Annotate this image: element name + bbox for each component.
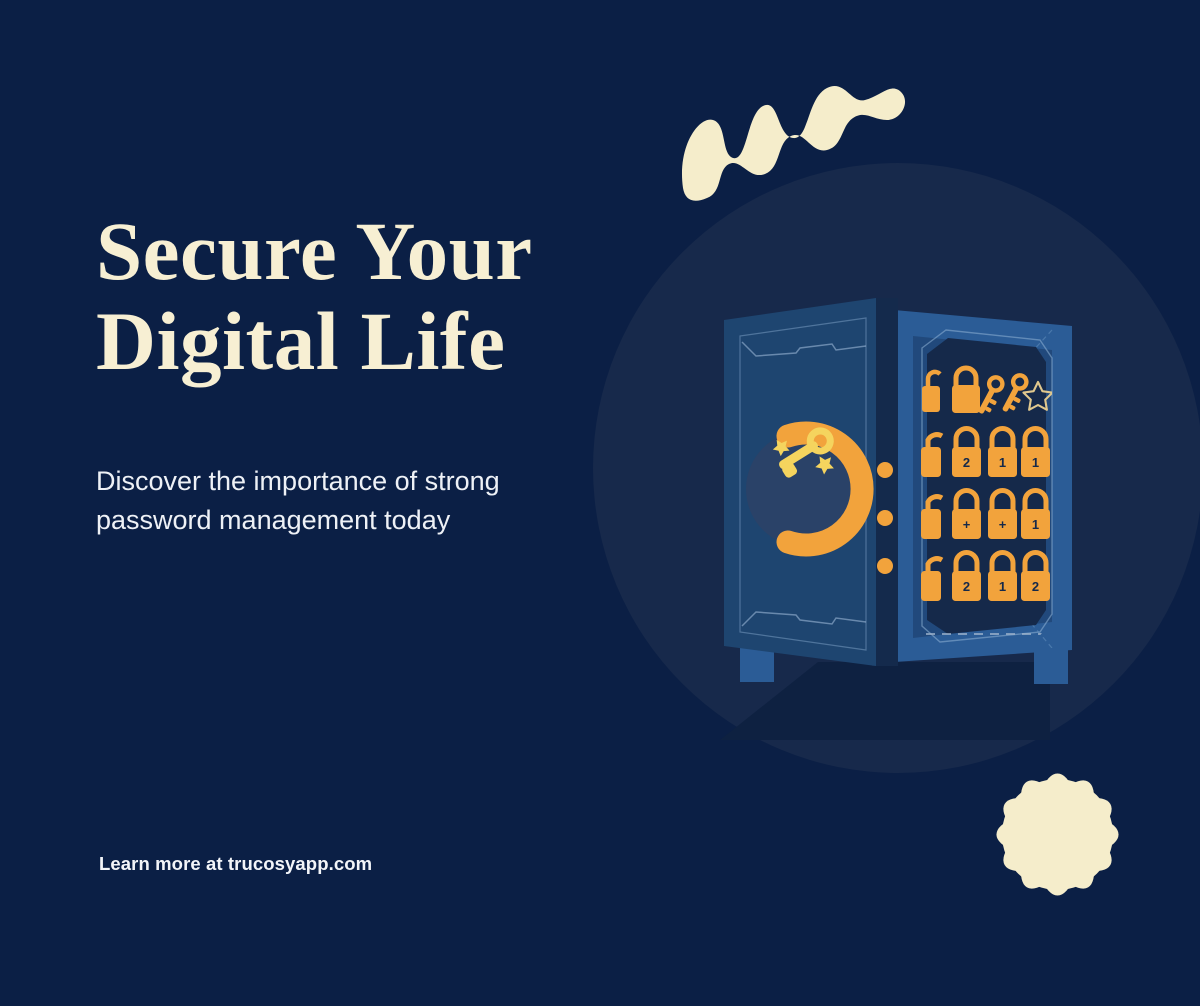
safe-body	[894, 310, 1072, 662]
hinge-dot	[877, 462, 893, 478]
squiggle-decoration	[655, 58, 925, 213]
safe-door	[724, 298, 876, 666]
hinge-dot	[877, 510, 893, 526]
hinge-dot	[877, 558, 893, 574]
poster-canvas: 2 1 1	[0, 0, 1200, 1006]
flower-decoration	[955, 742, 1160, 927]
padlock-label: 2	[1032, 579, 1039, 594]
padlock-label: 1	[999, 455, 1006, 470]
padlock-label: 1	[1032, 455, 1039, 470]
headline-line-1: Secure Your	[96, 205, 533, 297]
padlock-label: 1	[1032, 517, 1039, 532]
safe-illustration: 2 1 1	[700, 270, 1140, 720]
padlock-label: 2	[963, 579, 970, 594]
padlock-label: +	[999, 517, 1007, 532]
padlock-label: +	[963, 517, 971, 532]
footer-cta-text: Learn more at trucosyapp.com	[99, 853, 372, 875]
padlock-label: 2	[963, 455, 970, 470]
page-title: Secure YourDigital Life	[96, 206, 596, 387]
headline-line-2: Digital Life	[96, 295, 505, 387]
headline-block: Secure YourDigital Life	[96, 206, 596, 387]
padlock-label: 1	[999, 579, 1006, 594]
subheadline: Discover the importance of strong passwo…	[96, 462, 576, 540]
